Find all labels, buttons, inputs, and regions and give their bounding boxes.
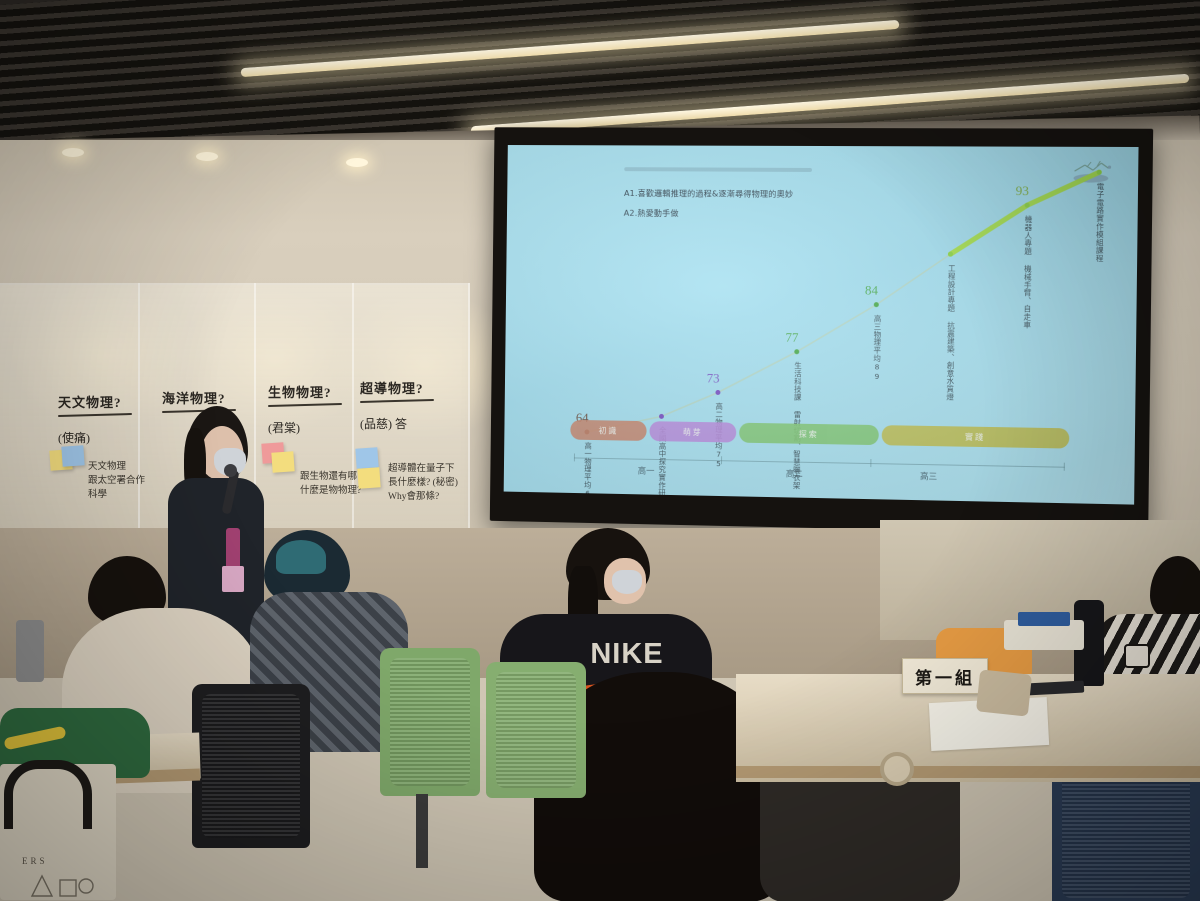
stage-chip-1: 萌芽	[649, 421, 736, 442]
data-label-7: 電子電路實作模組課程	[1095, 182, 1105, 262]
whiteboard-note-4: 超導體在量子下 長什麼樣? (秘密) Why會那條?	[388, 462, 458, 504]
snack-pack	[976, 669, 1032, 716]
underline-stroke	[360, 399, 434, 403]
data-label-5: 工程設計專題 抗震建築、創意水質燈	[946, 264, 957, 401]
axis-tick	[721, 456, 722, 464]
whiteboard-column-1: 天文物理? (使痛)	[58, 392, 132, 446]
whiteboard-author-name: (品慈) 答	[360, 415, 434, 432]
whiteboard-column-3: 生物物理? (君棠)	[268, 382, 342, 436]
stage-chip-3: 實踐	[882, 425, 1070, 448]
projection-screen: A1.喜歡邏輯推理的過程&逐漸尋得物理的奧妙 A2.熱愛動手做	[504, 145, 1139, 505]
whiteboard-topic-title: 超導物理?	[360, 378, 434, 397]
data-value-93: 93	[1016, 183, 1029, 199]
downlight	[62, 148, 84, 157]
microphone-head	[224, 464, 237, 477]
attendee-hair-dyed	[276, 540, 326, 574]
data-label-0: 高一物理平均64	[583, 442, 593, 505]
tissue-box-band	[1018, 612, 1070, 626]
axis-tick	[870, 459, 871, 467]
whiteboard-author-name: (君棠)	[268, 419, 342, 436]
data-point	[874, 302, 879, 307]
whiteboard-note-3: 跟生物還有哪 什麼是物物理?	[300, 470, 361, 498]
speaker-device	[16, 620, 44, 682]
data-point	[794, 349, 799, 354]
sticky-note	[357, 467, 380, 488]
data-point	[659, 414, 664, 419]
sticky-note	[355, 447, 378, 468]
underline-stroke	[58, 413, 132, 417]
data-value-73: 73	[707, 370, 720, 386]
downlight	[196, 152, 218, 161]
chart-line-svg	[504, 145, 1139, 505]
wristwatch	[1124, 644, 1150, 668]
tote-bag-illustration-icon	[24, 866, 98, 900]
data-label-6: 機器人專題 機械手臂、自走車	[1023, 215, 1034, 328]
table-right-edge	[736, 766, 1200, 778]
name-badge	[222, 566, 244, 592]
group-table-sign: 第一組	[902, 658, 988, 694]
growth-line-chart: 64 高一物理平均64 全國高中探究實作研習營 73 高二物理平均75 77 生…	[504, 145, 1139, 505]
projection-screen-frame: A1.喜歡邏輯推理的過程&逐漸尋得物理的奧妙 A2.熱愛動手做	[490, 127, 1153, 535]
tote-bag-text: ERS	[22, 856, 48, 866]
data-point	[948, 252, 953, 257]
data-value-84: 84	[865, 282, 878, 298]
whiteboard-seam	[468, 283, 470, 528]
data-label-4: 高三物理平均89	[872, 315, 882, 382]
data-point	[715, 390, 720, 395]
sticky-note	[271, 451, 294, 472]
nike-wordmark: NIKE	[572, 640, 682, 669]
slide-content: A1.喜歡邏輯推理的過程&逐漸尋得物理的奧妙 A2.熱愛動手做	[504, 145, 1139, 505]
data-point	[1097, 170, 1102, 175]
whiteboard-topic-title: 海洋物理?	[162, 388, 236, 407]
axis-tick	[574, 453, 575, 461]
whiteboard-note-1: 天文物理 跟太空署合作 科學	[88, 460, 145, 502]
whiteboard-author-name: (使痛)	[58, 429, 132, 446]
tape-roll	[880, 752, 914, 786]
attendee-face-mask	[612, 570, 642, 594]
downlight	[346, 158, 368, 167]
chart-faint-line	[587, 251, 951, 438]
classroom-scene: 天文物理? (使痛) 天文物理 跟太空署合作 科學 海洋物理? 生物物理? (君…	[0, 0, 1200, 901]
tote-handle	[4, 760, 92, 829]
axis-label-2: 高三	[920, 470, 937, 482]
data-value-77: 77	[785, 330, 798, 346]
underline-stroke	[268, 403, 342, 407]
axis-tick	[1064, 463, 1065, 471]
data-point	[1025, 203, 1030, 208]
stage-chip-2: 探索	[739, 423, 879, 445]
sticky-note	[61, 445, 84, 466]
whiteboard-topic-title: 天文物理?	[58, 392, 132, 411]
axis-label-0: 高一	[638, 465, 655, 477]
whiteboard-column-4: 超導物理? (品慈) 答	[360, 378, 434, 432]
axis-label-1: 高二	[786, 467, 803, 479]
chair-stem	[416, 794, 428, 868]
stage-chip-0: 初識	[570, 420, 646, 441]
whiteboard-topic-title: 生物物理?	[268, 382, 342, 401]
